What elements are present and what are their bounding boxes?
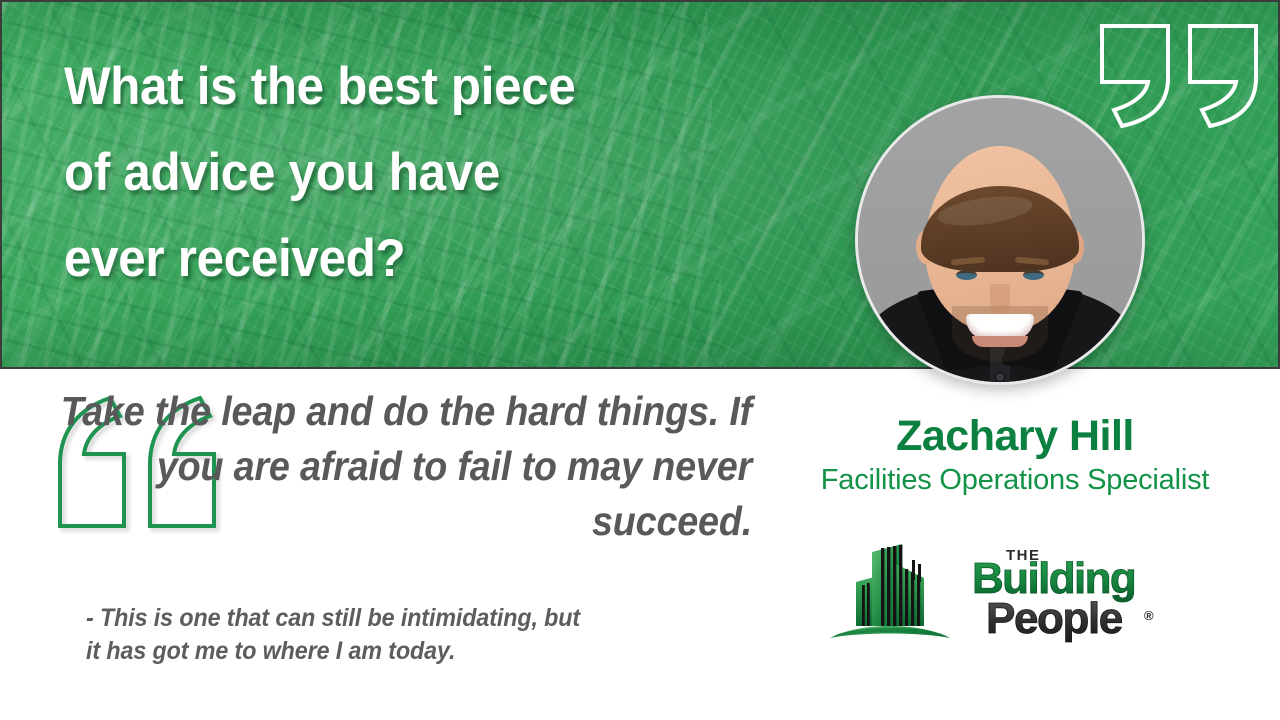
logo-people: People	[986, 594, 1122, 643]
logo-registered-mark: ®	[1144, 608, 1154, 623]
page-title: What is the best piece of advice you hav…	[64, 44, 771, 302]
avatar-shirt-button	[995, 372, 1005, 382]
company-logo: THE Building People ®	[826, 538, 1176, 646]
avatar-lower-lip	[972, 336, 1028, 347]
quote-text: Take the leap and do the hard things. If…	[60, 384, 752, 549]
avatar-eye-right	[1023, 270, 1044, 280]
quote-note: - This is one that can still be intimida…	[86, 602, 718, 668]
avatar-nose	[990, 284, 1010, 314]
building-skyline-icon	[830, 544, 950, 638]
person-title: Facilities Operations Specialist	[760, 464, 1270, 497]
avatar-eye-left	[956, 270, 977, 280]
person-name: Zachary Hill	[760, 412, 1270, 461]
avatar	[855, 95, 1145, 385]
avatar-hair	[921, 186, 1079, 272]
